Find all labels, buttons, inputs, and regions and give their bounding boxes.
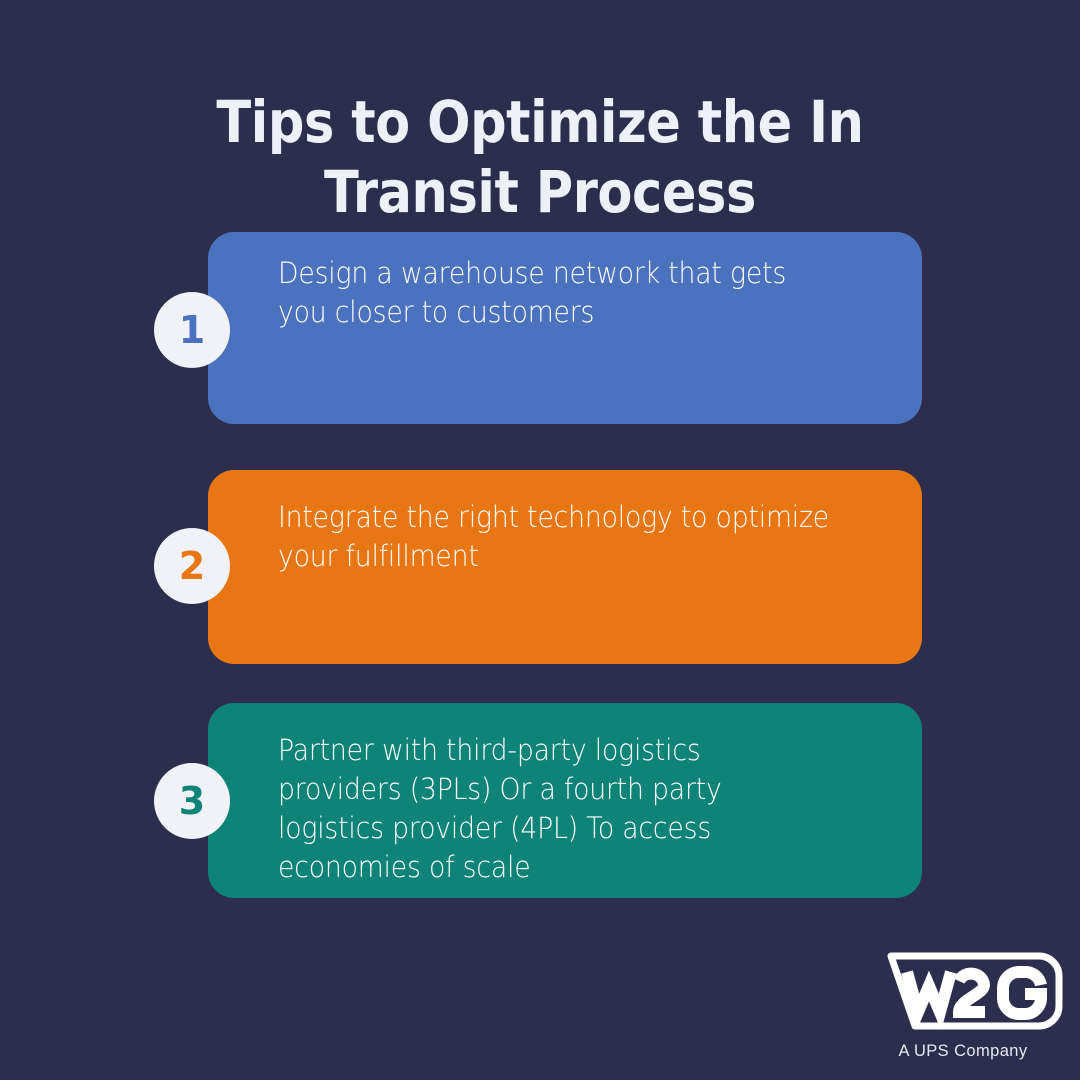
tip-card-1: Design a warehouse network that gets you… xyxy=(208,232,922,424)
tip-card-1-text: Design a warehouse network that gets you… xyxy=(278,254,830,332)
tip-card-2-text: Integrate the right technology to optimi… xyxy=(278,498,830,576)
tip-card-2: Integrate the right technology to optimi… xyxy=(208,470,922,664)
infographic-canvas: Tips to Optimize the In Transit Process … xyxy=(0,0,1080,1080)
tip-badge-2: 2 xyxy=(154,528,230,604)
page-title: Tips to Optimize the In Transit Process xyxy=(144,87,936,227)
logo-tagline: A UPS Company xyxy=(863,1042,1063,1061)
tip-badge-1: 1 xyxy=(154,292,230,368)
tip-card-3-text: Partner with third-party logistics provi… xyxy=(278,731,830,887)
brand-logo: A UPS Company xyxy=(863,950,1063,1061)
tip-card-3: Partner with third-party logistics provi… xyxy=(208,703,922,898)
tip-badge-3: 3 xyxy=(154,763,230,839)
w2g-logo-icon xyxy=(863,950,1063,1036)
